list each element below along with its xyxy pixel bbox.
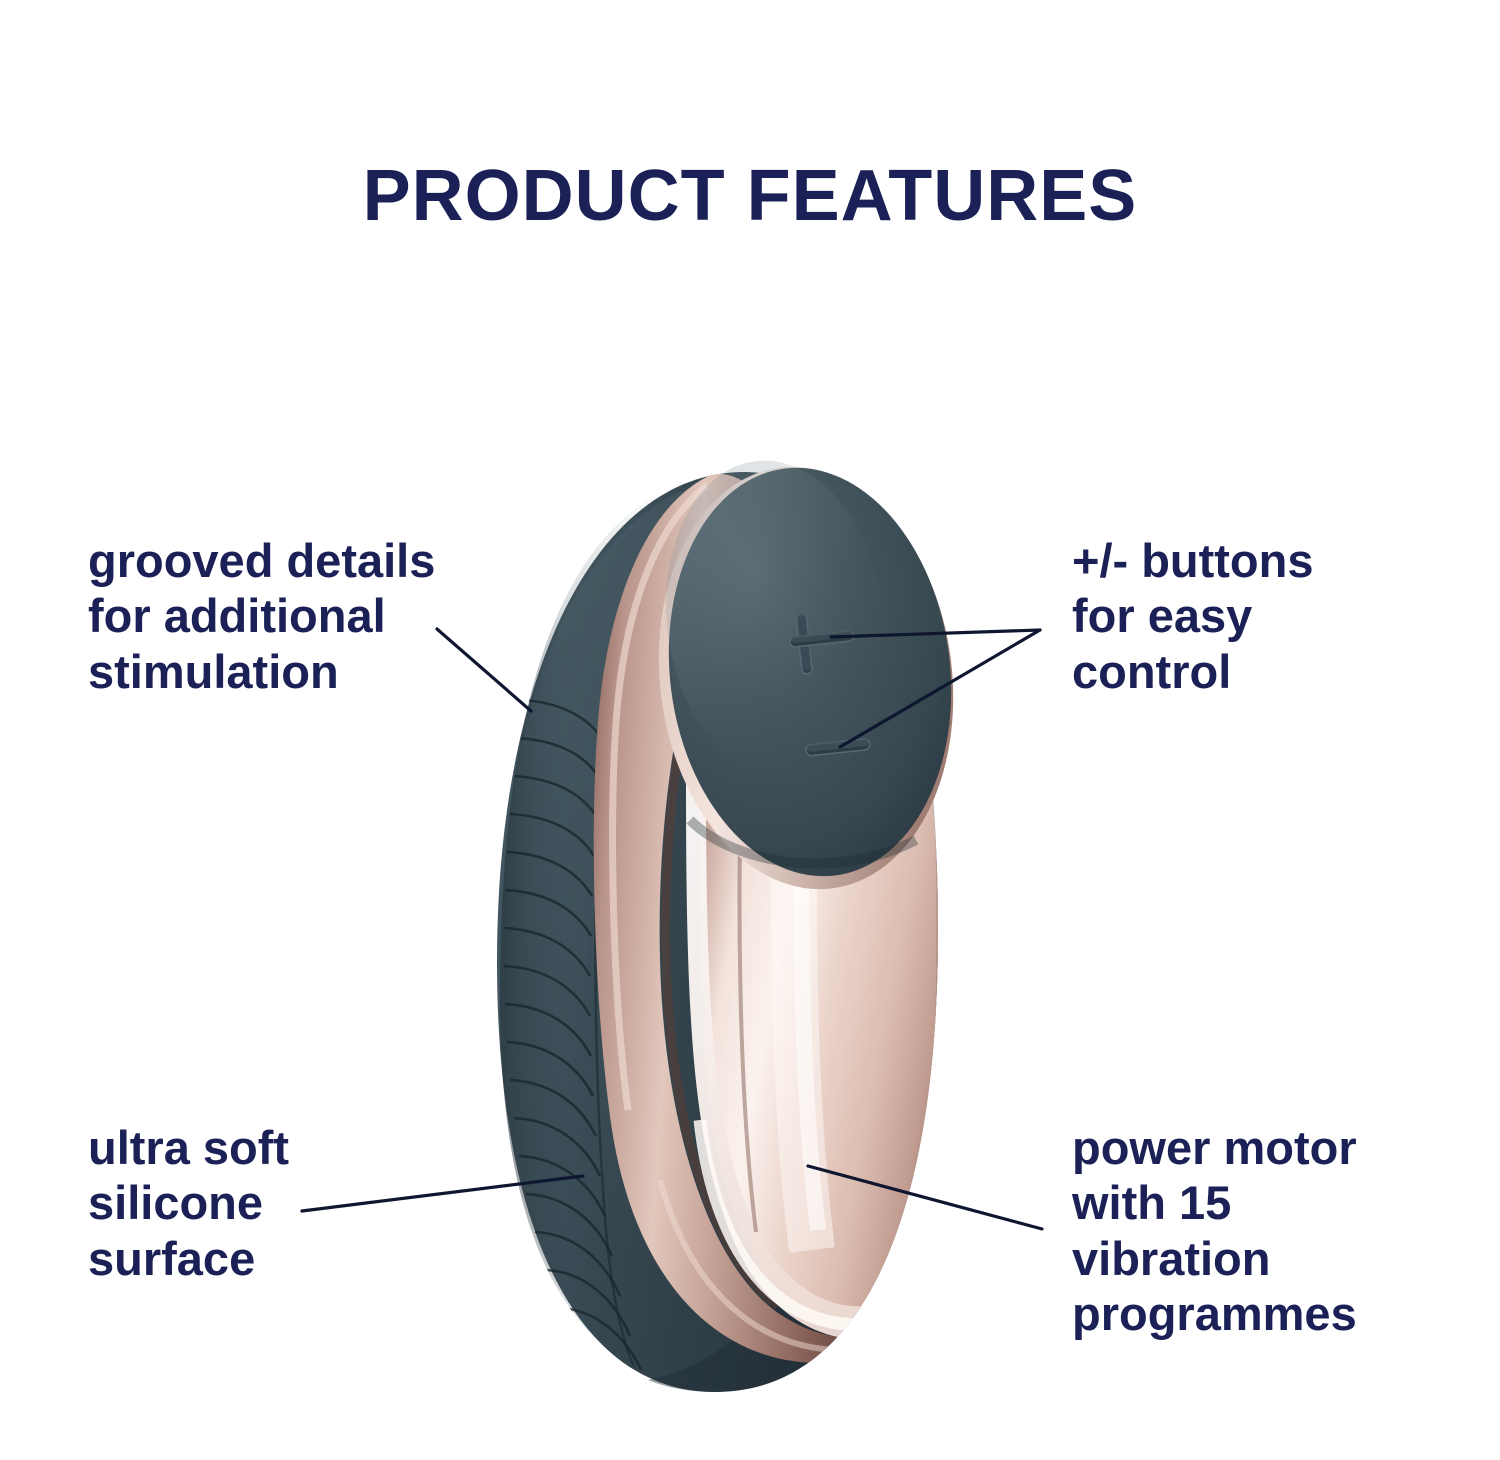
callout-power-motor: power motor with 15 vibration programmes [1072, 1120, 1357, 1342]
callout-grooved-details: grooved details for additional stimulati… [88, 533, 435, 699]
callout-line: surface [88, 1231, 289, 1286]
callout-line: silicone [88, 1175, 289, 1230]
callout-line: control [1072, 644, 1314, 699]
callout-line: programmes [1072, 1286, 1357, 1341]
callout-line: for easy [1072, 588, 1314, 643]
callout-line: power motor [1072, 1120, 1357, 1175]
callout-line: ultra soft [88, 1120, 289, 1175]
callout-line: vibration [1072, 1231, 1357, 1286]
callout-line: for additional [88, 588, 435, 643]
callout-line: +/- buttons [1072, 533, 1314, 588]
callout-line: grooved details [88, 533, 435, 588]
callout-line: stimulation [88, 644, 435, 699]
callout-ultra-soft-silicone: ultra soft silicone surface [88, 1120, 289, 1286]
callout-line: with 15 [1072, 1175, 1357, 1230]
callout-plus-minus-buttons: +/- buttons for easy control [1072, 533, 1314, 699]
